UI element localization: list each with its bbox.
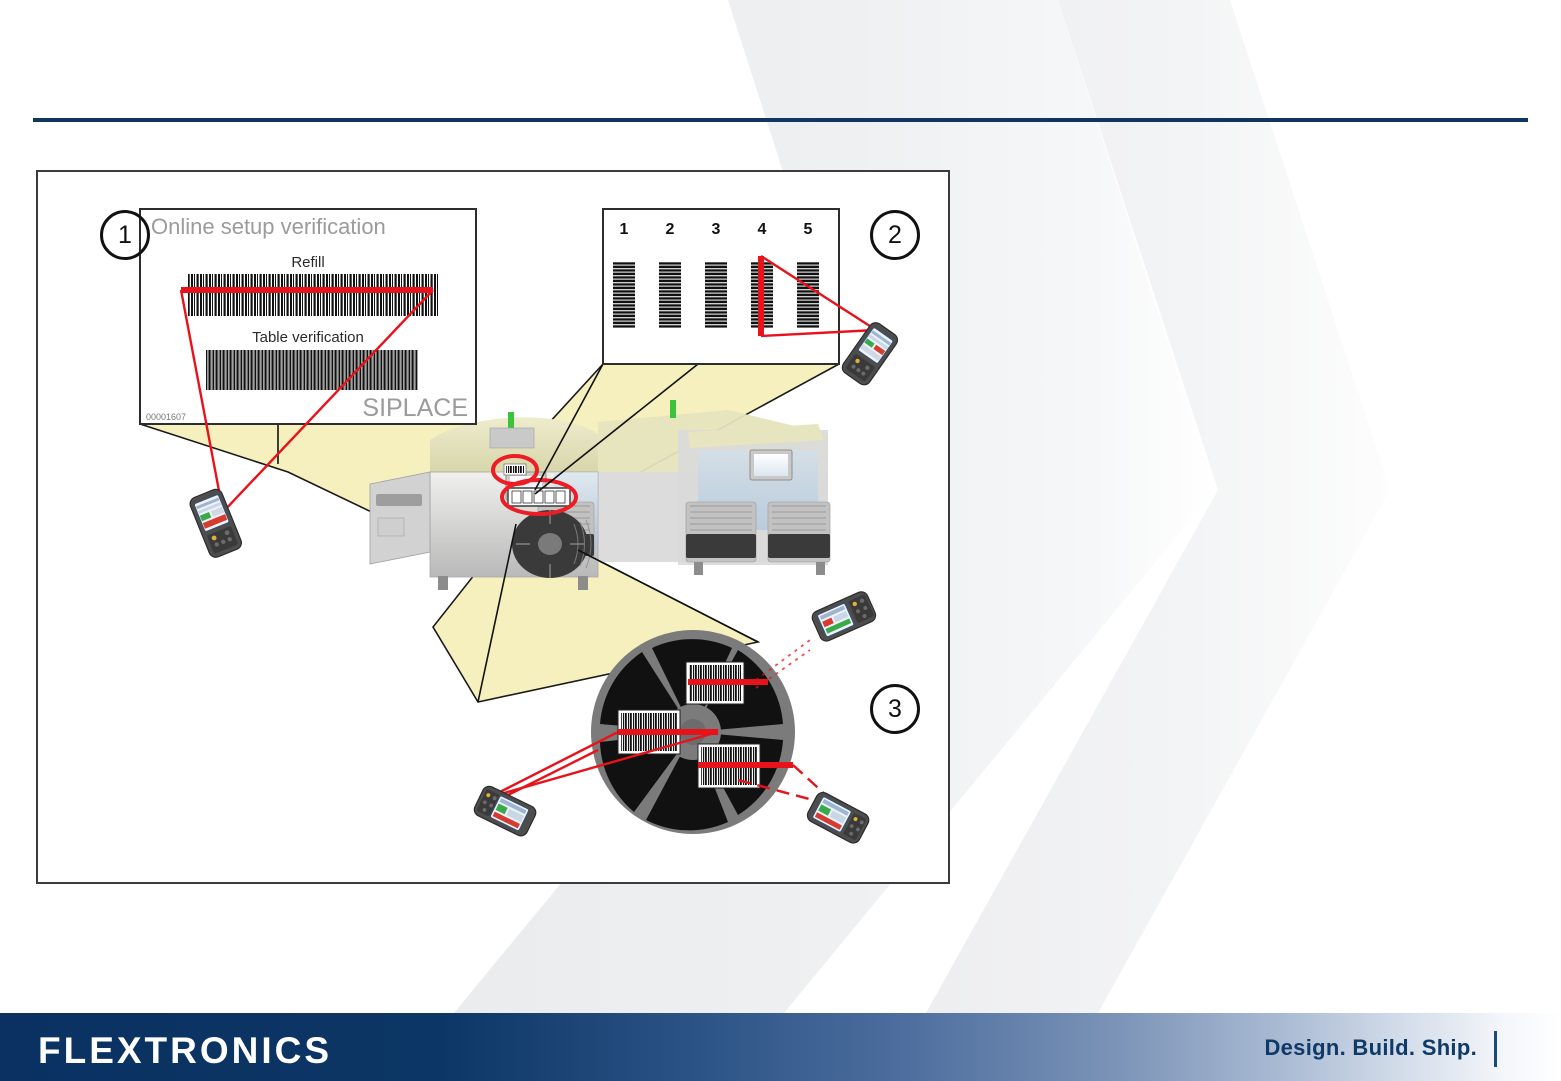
flextronics-logo: FLEXTRONICS [38, 1030, 332, 1072]
footer-divider [1494, 1031, 1497, 1067]
process-diagram: Online setup verification Refill Table v… [38, 172, 948, 882]
barcode-col-2 [659, 262, 681, 328]
panel2-num-4: 4 [758, 221, 767, 238]
barcode-refill [188, 274, 438, 316]
step-marker-3: 3 [870, 684, 920, 734]
panel1-refill-label: Refill [291, 254, 324, 271]
barcode-col-5 [797, 262, 819, 328]
panel1-table-label: Table verification [252, 329, 364, 346]
panel2-num-5: 5 [804, 221, 813, 238]
diagram-frame: Online setup verification Refill Table v… [36, 170, 950, 884]
step-marker-1-label: 1 [118, 221, 132, 250]
panel2-num-1: 1 [620, 221, 629, 238]
panel1-title: Online setup verification [151, 214, 386, 239]
handheld-scanner-reel-right [805, 790, 871, 845]
panel1-brand: SIPLACE [362, 394, 468, 422]
step-marker-1: 1 [100, 210, 150, 260]
barcode-col-3 [705, 262, 727, 328]
panel2-num-3: 3 [712, 221, 721, 238]
header-rule [33, 118, 1528, 122]
step-marker-2-label: 2 [888, 221, 902, 250]
barcode-table-verification [206, 350, 418, 390]
barcode-col-1 [613, 262, 635, 328]
handheld-scanner-panel2 [840, 320, 901, 388]
footer-bar: FLEXTRONICS Design. Build. Ship. [0, 1013, 1561, 1081]
panel2-num-2: 2 [666, 221, 675, 238]
handheld-scanner-reel-top [810, 590, 878, 644]
panel-2-feeder-barcodes: 1 2 3 4 5 [603, 209, 839, 364]
step-marker-3-label: 3 [888, 695, 902, 724]
footer-tagline: Design. Build. Ship. [1264, 1035, 1477, 1061]
panel1-code: 00001607 [146, 412, 186, 422]
step-marker-2: 2 [870, 210, 920, 260]
slide: Online setup verification Refill Table v… [0, 0, 1561, 1081]
panel-1-label: Online setup verification Refill Table v… [140, 209, 476, 424]
